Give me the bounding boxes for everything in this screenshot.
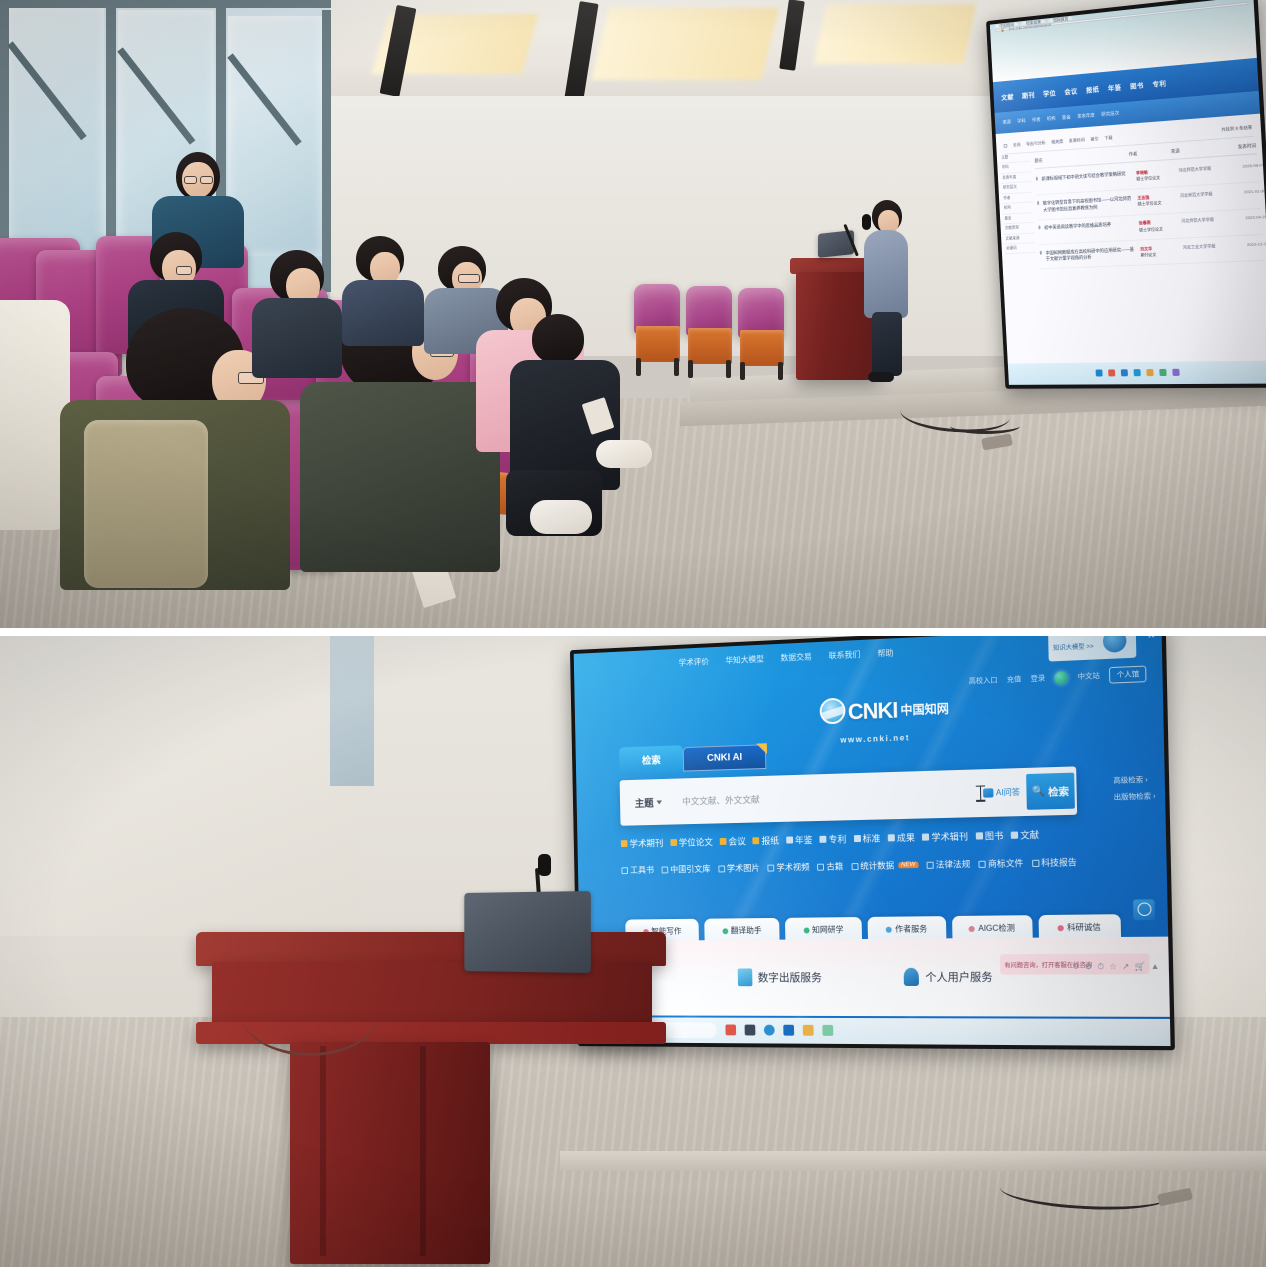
select-all-checkbox[interactable]	[1004, 143, 1008, 147]
top-icon[interactable]: ▲	[1151, 962, 1160, 972]
microphone-head	[862, 214, 871, 230]
bullet-icon	[722, 928, 728, 934]
ai-icon	[983, 788, 993, 797]
result-author: 王志强 硕士学位论文	[1137, 193, 1176, 208]
result-source: 河北师范大学学报	[1181, 216, 1227, 225]
results-list: 新课标视域下初中语文读写结合教学策略研究 李晓敏 硕士学位论文 河北师范大学学报…	[1035, 157, 1266, 354]
microphone-head	[538, 854, 551, 876]
screen-content: 中国知网 检索结果 知网首页 🔒 kns.cnki.net/kns8s/sear…	[990, 0, 1266, 385]
author-name: 刘文华	[1140, 245, 1152, 251]
author-name: 王志强	[1137, 195, 1149, 201]
sort-publish-time[interactable]: 发表时间	[1069, 137, 1085, 144]
result-source: 河北工业大学学报	[1183, 242, 1229, 250]
refresh-icon[interactable]: ↻	[1072, 962, 1079, 972]
app-icon[interactable]	[1172, 369, 1179, 376]
resource-yearbook[interactable]: 年鉴	[786, 833, 813, 846]
facet-item[interactable]: 关键词	[1004, 243, 1036, 255]
podium-groove	[420, 1046, 426, 1256]
nav-item-yearbook[interactable]: 年鉴	[1108, 81, 1122, 92]
sort-relevance[interactable]: 相关度	[1051, 138, 1063, 145]
app-icon[interactable]	[1159, 369, 1166, 376]
resource-trademark[interactable]: 商标文件	[979, 857, 1024, 870]
resource-reference-book[interactable]: 工具书	[622, 864, 654, 876]
result-date: 2022-04-20	[1232, 214, 1266, 221]
subnav-author[interactable]: 作者	[1032, 117, 1041, 124]
select-all-label[interactable]: 全选	[1013, 141, 1021, 147]
nav-huazhi-llm[interactable]: 华知大模型	[725, 653, 764, 666]
resource-ancient-book[interactable]: 古籍	[817, 860, 843, 872]
store-icon[interactable]	[783, 1025, 794, 1036]
promo-banner-text: 知识大模型 >>	[1053, 641, 1094, 652]
start-icon[interactable]	[1095, 370, 1102, 377]
files-icon[interactable]	[1146, 369, 1153, 376]
result-title[interactable]: 新课标视域下初中语文读写结合教学策略研究	[1041, 170, 1132, 182]
subnav-source[interactable]: 来源	[1002, 119, 1011, 125]
podium-operators-photo: 学术评价 华知大模型 数据交易 联系我们 帮助 知识大模型 >> ✕ 高校入口 …	[0, 636, 1266, 1267]
advanced-search-link[interactable]: 高级检索 ›	[1113, 773, 1155, 790]
publication-search-link[interactable]: 出版物检索 ›	[1113, 789, 1155, 806]
tab-cnki-ai[interactable]: CNKI AI	[683, 744, 767, 771]
subnav-org[interactable]: 机构	[1047, 116, 1056, 123]
lecture-hall-audience-photo: 中国知网 检索结果 知网首页 🔒 kns.cnki.net/kns8s/sear…	[0, 0, 1266, 628]
search-button-label: 检索	[1048, 783, 1069, 799]
globe-icon[interactable]	[1054, 671, 1068, 685]
subnav-year[interactable]: 发表年度	[1077, 112, 1095, 119]
digital-publishing-service[interactable]: 数字出版服务	[737, 969, 822, 987]
resource-thesis[interactable]: 学位论文	[670, 835, 713, 849]
bottom-services: 数字出版服务 个人用户服务	[579, 937, 1169, 1017]
result-title[interactable]: 初中英语阅读教学中的思维品质培养	[1044, 221, 1135, 232]
presenter-shoe	[868, 372, 894, 382]
stage-chair-leg	[740, 362, 745, 380]
bullet-icon	[969, 926, 975, 932]
nav-academic-evaluation[interactable]: 学术评价	[678, 656, 709, 668]
nav-item-patent[interactable]: 专利	[1152, 77, 1166, 88]
edge-icon[interactable]	[764, 1025, 775, 1036]
search-field-selector[interactable]: 主题	[620, 794, 676, 810]
search-icon: 🔍	[1032, 786, 1045, 798]
resource-laws[interactable]: 法律法规	[927, 858, 971, 871]
float-toolbar: ↻ ⚙ ⏱ ☆ ↗ 🛒 ▲	[1072, 962, 1159, 973]
col-title: 题名	[1034, 152, 1129, 164]
cnki-logo: CNKI 中国知网	[819, 693, 949, 724]
nav-item-thesis[interactable]: 学位	[1043, 87, 1056, 98]
settings-icon[interactable]: ⚙	[1084, 962, 1092, 972]
podium-top	[196, 932, 666, 966]
row-checkbox[interactable]	[1039, 250, 1041, 254]
resource-book[interactable]: 图书	[975, 829, 1003, 843]
resource-academic-video[interactable]: 学术视频	[767, 861, 809, 874]
personal-library-button[interactable]: 个人馆	[1109, 666, 1147, 684]
history-icon[interactable]: ⏱	[1097, 962, 1104, 972]
author-degree: 硕士学位论文	[1136, 175, 1160, 181]
personal-user-service[interactable]: 个人用户服务	[904, 968, 993, 986]
floor-cable	[950, 418, 1020, 434]
photos-icon[interactable]	[823, 1025, 834, 1036]
window-edge	[330, 636, 374, 786]
composite-photo-collage: 中国知网 检索结果 知网首页 🔒 kns.cnki.net/kns8s/sear…	[0, 0, 1266, 1267]
resource-standard[interactable]: 标准	[853, 831, 880, 845]
text-cursor-icon	[980, 785, 982, 801]
edge-icon[interactable]	[1120, 370, 1127, 377]
result-date: 2025-08-07	[1229, 162, 1264, 169]
stage-chair-base	[688, 328, 732, 364]
cnki-search-results-page: 中国知网 检索结果 知网首页 🔒 kns.cnki.net/kns8s/sear…	[990, 0, 1266, 385]
search-field-label: 主题	[635, 795, 654, 810]
resource-academic-image[interactable]: 学术图片	[718, 862, 760, 875]
stage-chair-base	[636, 326, 680, 362]
result-title[interactable]: 中国知网数据库在高校科研中的应用研究——基于文献计量学视角的分析	[1045, 246, 1136, 263]
lock-icon: 🔒	[1000, 27, 1005, 32]
resource-tech-report[interactable]: 科技报告	[1032, 856, 1077, 869]
podium-laptop	[464, 891, 591, 973]
result-source: 河北师范大学学报	[1180, 190, 1226, 199]
app-icon[interactable]	[1108, 370, 1115, 377]
chevron-down-icon	[656, 800, 662, 804]
export-button[interactable]: 导出与分析	[1026, 140, 1046, 147]
stage-chair-leg	[674, 358, 679, 376]
customer-service-float-button[interactable]	[1133, 899, 1155, 920]
podium-groove	[320, 1046, 326, 1256]
cnki-chinese-name: 中国知网	[900, 699, 949, 721]
presenter-legs	[872, 312, 902, 376]
result-author: 李晓敏 硕士学位论文	[1136, 168, 1175, 183]
shoe	[530, 500, 592, 534]
stage-chair-leg	[636, 358, 641, 376]
stage-chair-leg	[778, 362, 783, 380]
sort-download[interactable]: 下载	[1104, 135, 1112, 142]
cnki-homepage: 学术评价 华知大模型 数据交易 联系我们 帮助 知识大模型 >> ✕ 高校入口 …	[574, 636, 1171, 1046]
podium-cable	[240, 966, 380, 1056]
tab-search[interactable]: 检索	[619, 745, 683, 773]
resource-serial[interactable]: 学术辑刊	[922, 829, 968, 843]
resource-literature[interactable]: 文献	[1011, 828, 1039, 842]
author-degree: 硕士学位论文	[1139, 226, 1163, 232]
stage-step	[560, 1151, 1266, 1171]
result-author: 刘文华 期刊论文	[1140, 244, 1179, 258]
office-icon[interactable]	[803, 1025, 814, 1036]
resource-achievement[interactable]: 成果	[888, 831, 915, 845]
stage-chair-leg	[688, 360, 693, 378]
ai-question-label: AI问答	[996, 787, 1021, 799]
nav-item-book[interactable]: 图书	[1130, 79, 1144, 90]
nav-item-journal[interactable]: 期刊	[1022, 89, 1035, 100]
search-tabs: 检索 CNKI AI	[619, 742, 766, 773]
result-count: 共找到 8 条结果	[1221, 124, 1252, 132]
nav-help[interactable]: 帮助	[877, 647, 893, 659]
author-name: 张春燕	[1139, 220, 1151, 226]
nav-contact-us[interactable]: 联系我们	[829, 649, 861, 661]
resource-statistics[interactable]: 统计数据NEW	[851, 859, 918, 872]
bullet-icon	[803, 927, 809, 933]
search-button[interactable]: 🔍 检索	[1026, 773, 1075, 811]
result-author: 张春燕 硕士学位论文	[1139, 219, 1178, 234]
ceiling-cove-light	[591, 8, 779, 80]
subnav-level[interactable]: 研究层次	[1101, 110, 1119, 117]
presentation-screen: 中国知网 检索结果 知网首页 🔒 kns.cnki.net/kns8s/sear…	[986, 0, 1266, 389]
presentation-screen: 学术评价 华知大模型 数据交易 联系我们 帮助 知识大模型 >> ✕ 高校入口 …	[570, 636, 1175, 1050]
resource-citation-db[interactable]: 中国引文库	[662, 863, 711, 876]
stage-chair-base	[740, 330, 784, 366]
resource-journal[interactable]: 学术期刊	[621, 836, 663, 850]
row-checkbox[interactable]	[1037, 201, 1039, 205]
ceiling-cove-light	[814, 4, 977, 64]
mail-icon[interactable]	[726, 1025, 737, 1036]
files-icon[interactable]	[745, 1025, 756, 1036]
stage-chair-leg	[726, 360, 731, 378]
nav-item-conference[interactable]: 会议	[1064, 85, 1078, 96]
resource-conference[interactable]: 会议	[720, 834, 746, 847]
advanced-search-links: 高级检索 › 出版物检索 ›	[1113, 773, 1156, 806]
cnki-globe-icon	[819, 697, 845, 724]
author-degree: 期刊论文	[1140, 252, 1156, 258]
cart-icon[interactable]: 🛒	[1135, 962, 1146, 972]
row-checkbox[interactable]	[1038, 226, 1040, 230]
document-icon	[737, 969, 752, 987]
author-name: 李晓敏	[1136, 169, 1148, 175]
util-campus-entry[interactable]: 高校入口	[969, 675, 998, 686]
floor	[0, 1017, 1266, 1267]
sort-cited[interactable]: 被引	[1090, 136, 1098, 143]
side-wall	[0, 636, 360, 936]
subnav-subject[interactable]: 学科	[1017, 118, 1026, 124]
result-source: 河北师范大学学报	[1178, 165, 1224, 174]
author-degree: 硕士学位论文	[1138, 201, 1162, 207]
bullet-icon	[886, 927, 892, 933]
col-author: 作者	[1129, 149, 1172, 158]
col-date: 发表时间	[1219, 143, 1257, 152]
nav-item-newspaper[interactable]: 报纸	[1086, 83, 1100, 94]
shoe	[596, 440, 652, 468]
nav-item-literature[interactable]: 文献	[1001, 91, 1014, 102]
result-date: 2021-01-30	[1230, 188, 1265, 195]
ai-question-button[interactable]: AI问答	[983, 787, 1020, 799]
row-checkbox[interactable]	[1035, 177, 1037, 181]
nav-data-trading[interactable]: 数据交易	[780, 651, 811, 663]
search-input[interactable]: 中文文献、外文文献	[676, 787, 978, 808]
app-icon[interactable]	[1133, 369, 1140, 376]
resource-patent[interactable]: 专利	[820, 832, 847, 846]
bullet-icon	[1058, 925, 1064, 931]
util-recharge[interactable]: 充值	[1007, 674, 1022, 685]
photo-divider	[0, 628, 1266, 636]
favorite-icon[interactable]: ☆	[1109, 962, 1117, 972]
windows-taskbar: 🔍 搜索	[581, 1017, 1171, 1046]
result-title[interactable]: 数字化转型背景下的高校图书馆——以河北师范大学图书馆信息素养教育为例	[1043, 196, 1134, 214]
close-icon[interactable]: ✕	[1147, 636, 1155, 642]
cnki-wordmark: CNKI	[848, 700, 898, 723]
col-source: 来源	[1171, 146, 1219, 155]
new-badge: NEW	[898, 862, 918, 868]
user-icon	[904, 968, 919, 986]
resource-newspaper[interactable]: 报纸	[753, 834, 779, 847]
util-language[interactable]: 中文站	[1077, 671, 1099, 682]
windows-taskbar	[1008, 360, 1266, 385]
share-icon[interactable]: ↗	[1122, 962, 1129, 972]
result-date: 2023-12-15	[1233, 240, 1266, 247]
screen-content: 学术评价 华知大模型 数据交易 联系我们 帮助 知识大模型 >> ✕ 高校入口 …	[574, 636, 1171, 1046]
util-login[interactable]: 登录	[1030, 673, 1045, 684]
subnav-fund[interactable]: 基金	[1062, 114, 1071, 121]
